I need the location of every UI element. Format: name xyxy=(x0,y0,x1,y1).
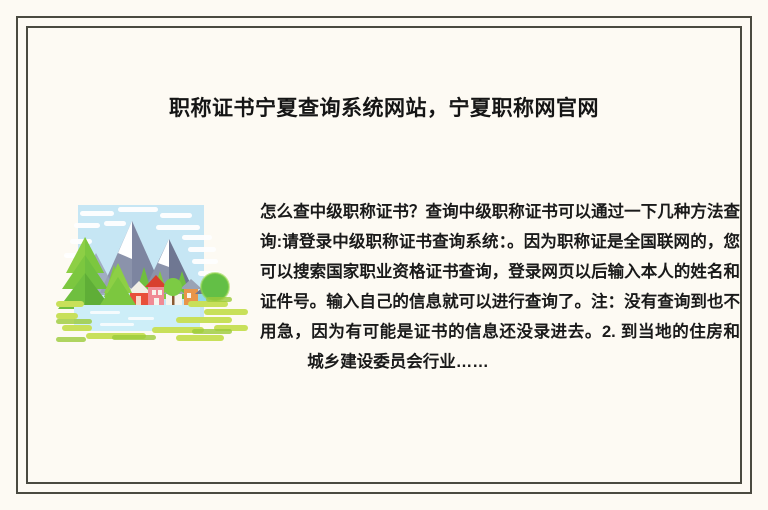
landscape-illustration xyxy=(56,201,248,343)
article-body: 怎么查中级职称证书？查询中级职称证书可以通过一下几种方法查询:请登录中级职称证书… xyxy=(56,197,740,377)
page-title: 职称证书宁夏查询系统网站，宁夏职称网官网 xyxy=(0,94,768,124)
document-page: 职称证书宁夏查询系统网站，宁夏职称网官网 xyxy=(0,0,768,510)
